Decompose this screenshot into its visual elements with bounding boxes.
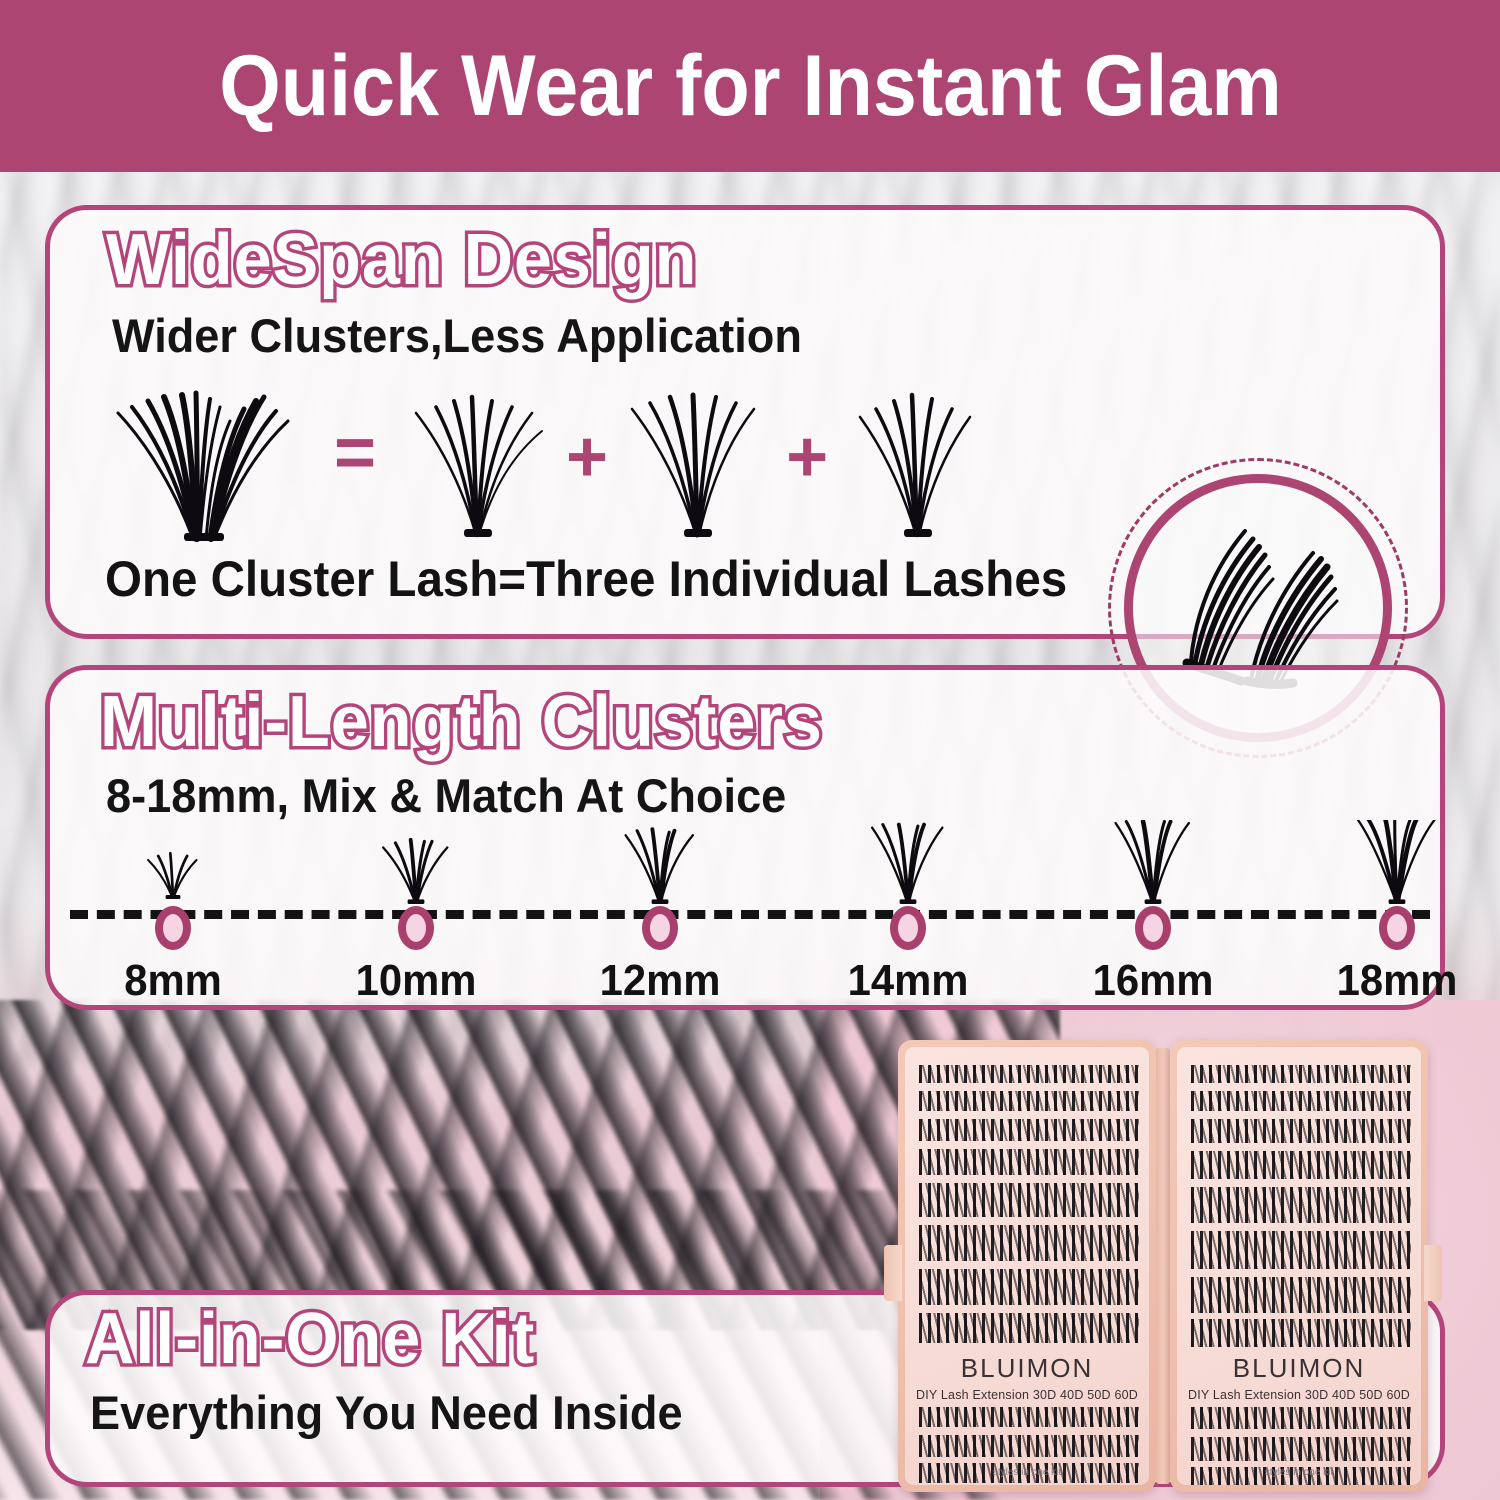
tray-brand-block: BLUIMON DIY Lash Extension 30D 40D 50D 6… bbox=[1177, 1353, 1421, 1402]
plus-operator-2: + bbox=[786, 421, 828, 493]
tray-row bbox=[919, 1183, 1139, 1217]
tray-row bbox=[919, 1313, 1139, 1343]
tray-clasp-right bbox=[1424, 1245, 1442, 1301]
scale-label-12mm: 12mm bbox=[589, 956, 732, 1006]
tray-row bbox=[1191, 1231, 1411, 1269]
tray-row bbox=[1191, 1065, 1411, 1083]
individual-lash-icon-3 bbox=[842, 383, 992, 543]
equals-operator: = bbox=[334, 417, 376, 489]
scale-dot-10mm bbox=[398, 906, 434, 950]
lash-tray-right: BLUIMON DIY Lash Extension 30D 40D 50D 6… bbox=[1170, 1040, 1428, 1492]
tray-row bbox=[1191, 1407, 1411, 1429]
scale-label-8mm: 8mm bbox=[102, 956, 245, 1006]
tray-brand-subtitle: DIY Lash Extension 30D 40D 50D 60D bbox=[905, 1388, 1149, 1402]
tray-clasp-left bbox=[884, 1245, 902, 1301]
cluster-equation: = + bbox=[98, 368, 1058, 543]
panel-widespan-design: WideSpan Design Wider Clusters,Less Appl… bbox=[45, 205, 1445, 639]
scale-dot-12mm bbox=[642, 906, 678, 950]
scale-label-16mm: 16mm bbox=[1082, 956, 1225, 1006]
lash-size-icon-8mm bbox=[136, 820, 210, 904]
lash-size-icon-16mm bbox=[1097, 820, 1209, 904]
widespan-bottom-line: One Cluster Lash=Three Individual Lashes bbox=[105, 550, 1067, 608]
tray-brand-name: BLUIMON bbox=[1177, 1353, 1421, 1384]
tray-brand-block: BLUIMON DIY Lash Extension 30D 40D 50D 6… bbox=[905, 1353, 1149, 1402]
plus-operator-1: + bbox=[566, 421, 608, 493]
tray-row bbox=[1191, 1319, 1411, 1347]
scale-stop-10mm[interactable]: 10mm bbox=[341, 820, 491, 1006]
lash-tray-right-inner: BLUIMON DIY Lash Extension 30D 40D 50D 6… bbox=[1177, 1047, 1421, 1485]
length-scale: 8mm 10mm bbox=[60, 820, 1440, 1005]
scale-dot-14mm bbox=[890, 906, 926, 950]
lash-tray-left-inner: BLUIMON DIY Lash Extension 30D 40D 50D 6… bbox=[905, 1047, 1149, 1485]
wide-cluster-lash-icon bbox=[98, 373, 308, 543]
lash-tray-product-photo: BLUIMON DIY Lash Extension 30D 40D 50D 6… bbox=[898, 1040, 1443, 1495]
tray-row bbox=[919, 1149, 1139, 1175]
tray-row bbox=[1191, 1091, 1411, 1111]
tray-row bbox=[919, 1225, 1139, 1261]
tray-brand-name: BLUIMON bbox=[905, 1353, 1149, 1384]
tray-row bbox=[1191, 1151, 1411, 1179]
scale-label-14mm: 14mm bbox=[837, 956, 980, 1006]
tray-footnote: styles in one kit bbox=[1177, 1467, 1421, 1478]
scale-stop-16mm[interactable]: 16mm bbox=[1078, 820, 1228, 1006]
scale-label-10mm: 10mm bbox=[345, 956, 488, 1006]
multilength-subline: 8-18mm, Mix & Match At Choice bbox=[106, 768, 786, 823]
infographic-page: Quick Wear for Instant Glam WideSpan Des… bbox=[0, 0, 1500, 1500]
tray-row bbox=[1191, 1119, 1411, 1143]
tray-row bbox=[1191, 1187, 1411, 1223]
scale-stop-12mm[interactable]: 12mm bbox=[585, 820, 735, 1006]
tray-row bbox=[919, 1119, 1139, 1141]
scale-stop-14mm[interactable]: 14mm bbox=[833, 820, 983, 1006]
lash-tray-left: BLUIMON DIY Lash Extension 30D 40D 50D 6… bbox=[898, 1040, 1156, 1492]
tray-row bbox=[919, 1065, 1139, 1083]
tray-spine bbox=[1156, 1048, 1170, 1484]
lash-size-icon-14mm bbox=[856, 820, 960, 904]
tray-brand-subtitle: DIY Lash Extension 30D 40D 50D 60D bbox=[1177, 1388, 1421, 1402]
widespan-headline: WideSpan Design bbox=[106, 224, 697, 297]
individual-lash-icon-2 bbox=[622, 383, 772, 543]
scale-dot-16mm bbox=[1135, 906, 1171, 950]
kit-headline: All-in-One Kit bbox=[85, 1303, 535, 1376]
tray-footnote: styles in one kit bbox=[905, 1467, 1149, 1478]
tray-row bbox=[919, 1407, 1139, 1427]
lash-size-icon-18mm bbox=[1336, 820, 1458, 904]
scale-stop-8mm[interactable]: 8mm bbox=[98, 820, 248, 1006]
tray-row bbox=[1191, 1437, 1411, 1461]
panel-multi-length-clusters: Multi-Length Clusters 8-18mm, Mix & Matc… bbox=[45, 665, 1445, 1010]
scale-label-18mm: 18mm bbox=[1326, 956, 1469, 1006]
kit-subline: Everything You Need Inside bbox=[90, 1385, 683, 1440]
scale-dot-18mm bbox=[1379, 906, 1415, 950]
tray-row bbox=[919, 1269, 1139, 1305]
scale-dot-8mm bbox=[155, 906, 191, 950]
header-banner: Quick Wear for Instant Glam bbox=[0, 0, 1500, 172]
scale-stop-18mm[interactable]: 18mm bbox=[1322, 820, 1472, 1006]
tray-row bbox=[1191, 1277, 1411, 1313]
tray-row bbox=[919, 1091, 1139, 1111]
tray-row bbox=[919, 1435, 1139, 1457]
widespan-subline: Wider Clusters,Less Application bbox=[112, 308, 802, 363]
lash-size-icon-12mm bbox=[612, 820, 708, 904]
multilength-headline: Multi-Length Clusters bbox=[100, 686, 823, 759]
individual-lash-icon-1 bbox=[402, 383, 552, 543]
banner-title: Quick Wear for Instant Glam bbox=[219, 37, 1282, 136]
lash-size-icon-10mm bbox=[373, 820, 459, 904]
